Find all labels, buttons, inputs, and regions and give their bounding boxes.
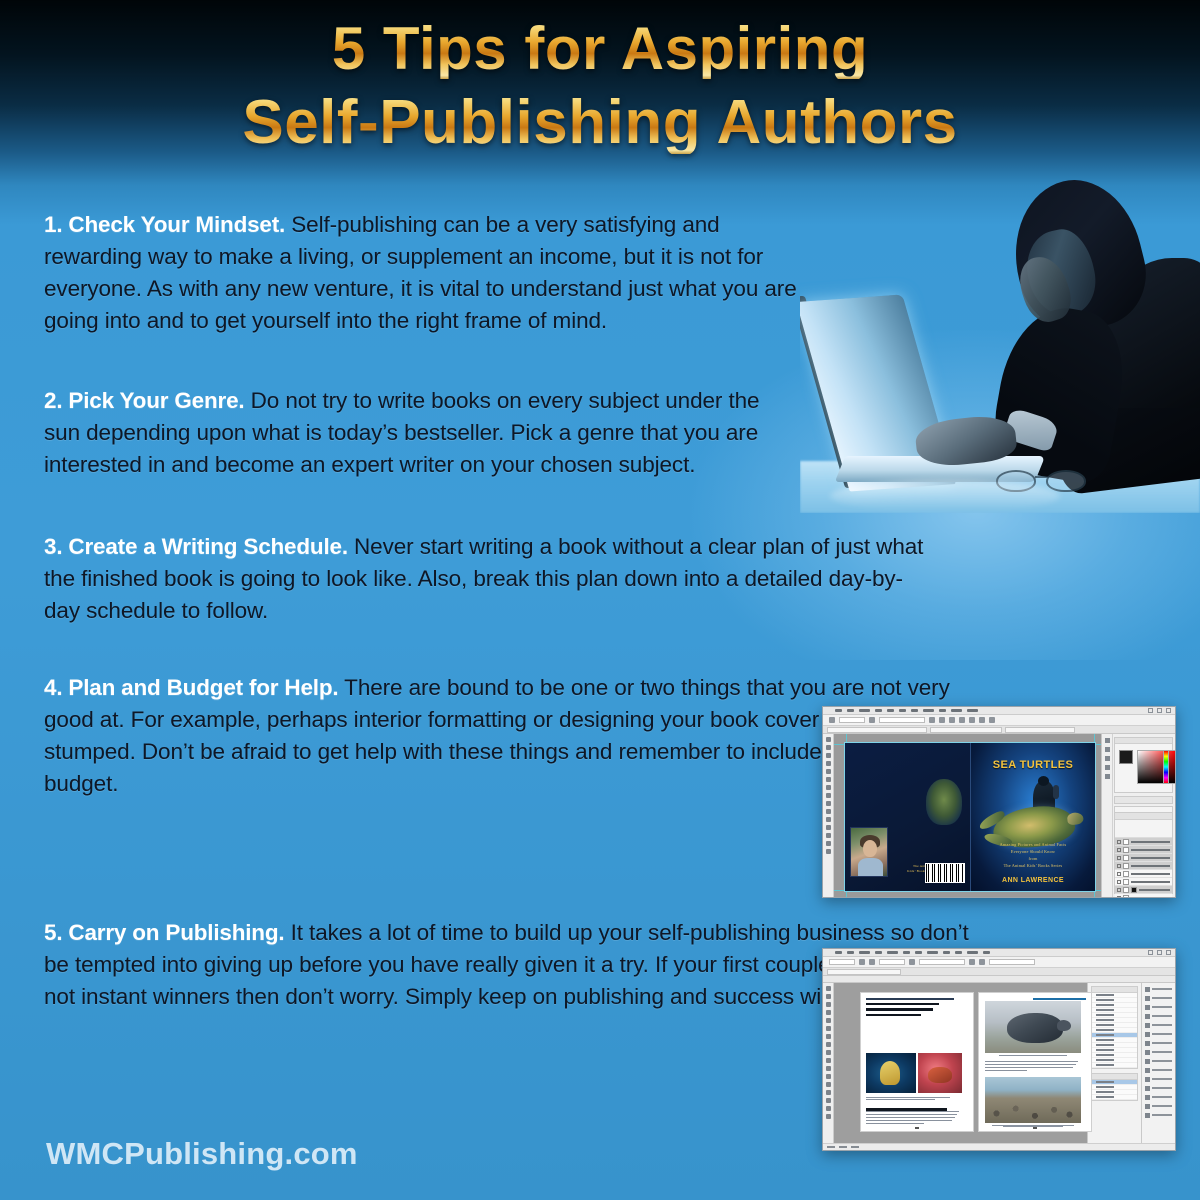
links-panel-button[interactable] (1145, 1004, 1172, 1010)
page-heading-2 (866, 1008, 933, 1011)
align-icon (1145, 1068, 1150, 1073)
move-tool-icon (829, 717, 835, 723)
clone-tool-icon (826, 785, 831, 790)
library-icon (1145, 1014, 1150, 1019)
page-number-right (979, 1127, 1091, 1129)
image-editor-toolbar[interactable] (823, 734, 834, 897)
type-tool-icon (826, 1018, 831, 1023)
history-panel-icon (1105, 738, 1110, 743)
layers-panel-button[interactable] (1145, 995, 1172, 1001)
layer-row[interactable] (1115, 894, 1172, 898)
title-line-1: 5 Tips for Aspiring (0, 18, 1200, 79)
tip-item-3: 3. Create a Writing Schedule. Never star… (44, 531, 924, 627)
distribute-icon (949, 717, 955, 723)
layer-row[interactable] (1115, 846, 1172, 854)
page-number-left (861, 1127, 973, 1129)
close-icon (1166, 708, 1171, 713)
close-icon (1166, 950, 1171, 955)
layer-row[interactable] (1115, 838, 1172, 846)
align-left-icon (859, 959, 865, 965)
align-center-icon (869, 959, 875, 965)
character-style-field (989, 959, 1035, 965)
maximize-icon (1157, 708, 1162, 713)
layers-panel[interactable] (1114, 812, 1173, 894)
info-panel-icon (1105, 765, 1110, 770)
layout-canvas[interactable] (834, 983, 1087, 1150)
rectangle-frame-tool-icon (826, 1050, 831, 1055)
type-tool-icon (826, 825, 831, 830)
turtle-nesting-beach-photo[interactable] (985, 1077, 1081, 1123)
window-controls[interactable] (1148, 708, 1171, 713)
tip-lead-2: 2. Pick Your Genre. (44, 388, 244, 413)
book-back-cover: The Animal Kids’ Books Series (845, 743, 970, 891)
cc-libraries-button[interactable] (1145, 1013, 1172, 1019)
hue-slider[interactable] (1163, 750, 1169, 784)
links-icon (1145, 1005, 1150, 1010)
layer-row[interactable] (1115, 862, 1172, 870)
char-style-item[interactable] (1092, 1095, 1137, 1100)
page-left[interactable] (860, 992, 974, 1132)
stroke-icon (1145, 1023, 1150, 1028)
page-heading-1 (866, 1003, 939, 1006)
navigator-panel-icon (1105, 756, 1110, 761)
collapsed-panel-rail[interactable] (1102, 734, 1113, 897)
minimize-icon (1148, 708, 1153, 713)
pages-panel-button[interactable] (1145, 986, 1172, 992)
author-photo (850, 827, 888, 877)
info-icon (1145, 1095, 1150, 1100)
layer-visibility-icon (1117, 896, 1121, 899)
object-styles-button[interactable] (1145, 1058, 1172, 1064)
layout-status-bar[interactable] (823, 1143, 1175, 1150)
free-transform-tool-icon (826, 1074, 831, 1079)
infographic-poster: 5 Tips for Aspiring Self-Publishing Auth… (0, 0, 1200, 1200)
option-field-1 (839, 717, 865, 723)
layer-visibility-icon (1117, 840, 1121, 844)
interior-layout-screenshot (822, 948, 1176, 1151)
layer-visibility-icon (1117, 880, 1121, 884)
isbn-barcode (925, 863, 965, 883)
zoom-level-field (827, 1146, 835, 1148)
text-wrap-panel-button[interactable] (1145, 1085, 1172, 1091)
layer-row[interactable] (1115, 886, 1172, 894)
layer-visibility-icon (1117, 888, 1121, 892)
layer-thumbnail (1123, 855, 1129, 861)
more-options-icon (989, 717, 995, 723)
tip-lead-5: 5. Carry on Publishing. (44, 920, 284, 945)
cover-title: SEA TURTLES (971, 759, 1095, 771)
document-tab-3[interactable] (1005, 727, 1075, 733)
horizontal-ruler (823, 976, 1175, 983)
layer-thumbnail (1123, 847, 1129, 853)
tip-item-2: 2. Pick Your Genre. Do not try to write … (44, 385, 789, 481)
layer-row[interactable] (1115, 854, 1172, 862)
move-tool-icon (826, 737, 831, 742)
table-icon (1145, 1104, 1150, 1109)
stressed-author-photo (800, 168, 1200, 513)
pages-icon (1145, 987, 1150, 992)
running-header (866, 998, 954, 1000)
stroke-weight-icon (909, 959, 915, 965)
maximize-icon (1157, 950, 1162, 955)
page-heading-3 (866, 1014, 921, 1017)
stroke-panel-button[interactable] (1145, 1022, 1172, 1028)
paragraph-styles-dock[interactable] (1087, 983, 1141, 1150)
color-icon (1145, 1032, 1150, 1037)
document-tab-1[interactable] (827, 727, 927, 733)
page-navigator-field (839, 1146, 847, 1148)
shape-tool-icon (826, 833, 831, 838)
blur-tool-icon (826, 809, 831, 814)
gradient-swatch-tool-icon (826, 1082, 831, 1087)
cover-canvas[interactable]: The Animal Kids’ Books Series SEA TURTLE… (834, 734, 1101, 897)
layer-thumbnail (1123, 895, 1129, 899)
layout-app-menu-bar[interactable] (823, 949, 1175, 957)
page-tool-icon (826, 1002, 831, 1007)
auto-select-icon (959, 717, 965, 723)
hand-tool-icon (826, 1106, 831, 1111)
cover-subtitle-line-4: The Animal Kids’ Books Series (1004, 863, 1063, 868)
gradient-tool-icon (826, 801, 831, 806)
minimize-icon (1148, 950, 1153, 955)
effects-panel-button[interactable] (1145, 1049, 1172, 1055)
effects-icon (979, 959, 985, 965)
layers-panel-header[interactable] (1115, 813, 1172, 820)
text-wrap-icon (969, 959, 975, 965)
swatches-panel-button[interactable] (1145, 1040, 1172, 1046)
rectangle-tool-icon (826, 1058, 831, 1063)
scissors-tool-icon (826, 1066, 831, 1071)
utility-panel-dock[interactable] (1141, 983, 1175, 1150)
panel-tab-strip[interactable] (1114, 796, 1173, 804)
tip-item-1: 1. Check Your Mindset. Self-publishing c… (44, 209, 804, 337)
pen-tool-icon (826, 817, 831, 822)
eraser-tool-icon (826, 793, 831, 798)
layer-visibility-icon (1117, 864, 1121, 868)
style-list-item[interactable] (1092, 1063, 1137, 1068)
eyedropper-tool-icon (826, 1098, 831, 1103)
hand-tool-icon (826, 841, 831, 846)
index-panel-button[interactable] (1145, 1112, 1172, 1118)
color-panel-button[interactable] (1145, 1031, 1172, 1037)
align-left-icon (869, 717, 875, 723)
character-styles-panel[interactable] (1091, 1073, 1138, 1101)
paragraph-styles-panel[interactable] (1091, 986, 1138, 1069)
page-right[interactable] (978, 992, 1092, 1132)
color-panel[interactable] (1114, 737, 1173, 793)
cover-subtitle: Amazing Pictures and Animal Facts Everyo… (975, 841, 1091, 869)
marquee-tool-icon (826, 745, 831, 750)
note-tool-icon (826, 1090, 831, 1095)
book-cover-spread: The Animal Kids’ Books Series SEA TURTLE… (844, 742, 1096, 892)
info-panel-button[interactable] (1145, 1094, 1172, 1100)
desk-reflection (830, 480, 1060, 512)
brushes-panel-icon (1105, 774, 1110, 779)
layout-app-control-bar[interactable] (823, 957, 1175, 968)
layer-thumbnail (1123, 839, 1129, 845)
sea-turtle-beach-photo[interactable] (985, 1001, 1081, 1053)
image-editor-menu-bar[interactable] (823, 707, 1175, 715)
cover-subtitle-line-1: Amazing Pictures and Animal Facts (1000, 842, 1067, 847)
pencil-tool-icon (826, 1042, 831, 1047)
image-editor-panel-dock[interactable] (1101, 734, 1175, 897)
option-field-2 (879, 717, 925, 723)
color-panel-header[interactable] (1115, 738, 1172, 744)
object-position-field (919, 959, 965, 965)
site-footer-url: WMCPublishing.com (46, 1136, 358, 1172)
title-line-2: Self-Publishing Authors (0, 91, 1200, 154)
back-cover-turtle-image (926, 779, 962, 825)
tip-lead-1: 1. Check Your Mindset. (44, 212, 285, 237)
hyperlink-icon (1145, 1077, 1150, 1082)
lasso-tool-icon (826, 753, 831, 758)
cover-subtitle-line-2: Everyone Should Know (1011, 849, 1055, 854)
zoom-tool-icon (826, 849, 831, 854)
layer-thumbnail (1123, 863, 1129, 869)
direct-selection-tool-icon (826, 994, 831, 999)
font-size-field (879, 959, 905, 965)
document-tab-bar[interactable] (823, 726, 1175, 734)
layer-thumbnail (1123, 879, 1129, 885)
layers-panel-options[interactable] (1115, 820, 1172, 838)
layer-visibility-icon (1117, 848, 1121, 852)
gap-tool-icon (826, 1010, 831, 1015)
layout-app-toolbar[interactable] (823, 983, 834, 1150)
layer-visibility-icon (1117, 872, 1121, 876)
pen-tool-icon (826, 1034, 831, 1039)
page-title: 5 Tips for Aspiring Self-Publishing Auth… (0, 18, 1200, 154)
arrange-icon (979, 717, 985, 723)
layer-thumbnail (1123, 871, 1129, 877)
window-controls[interactable] (1148, 950, 1171, 955)
running-header (1033, 998, 1086, 1000)
align-panel-button[interactable] (1145, 1067, 1172, 1073)
layer-row[interactable] (1115, 878, 1172, 886)
selection-tool-icon (826, 986, 831, 991)
tip-lead-3: 3. Create a Writing Schedule. (44, 534, 348, 559)
hyperlinks-panel-button[interactable] (1145, 1076, 1172, 1082)
tip-lead-4: 4. Plan and Budget for Help. (44, 675, 338, 700)
crop-tool-icon (826, 761, 831, 766)
book-front-cover: SEA TURTLES Amazing Pictures and Animal … (970, 743, 1095, 891)
swatches-icon (1145, 1041, 1150, 1046)
preflight-status (851, 1146, 859, 1148)
eyedropper-tool-icon (826, 769, 831, 774)
brush-tool-icon (826, 777, 831, 782)
table-panel-button[interactable] (1145, 1103, 1172, 1109)
line-tool-icon (826, 1026, 831, 1031)
align-right-icon (939, 717, 945, 723)
cover-author-name: ANN LAWRENCE (971, 877, 1095, 884)
transform-icon (969, 717, 975, 723)
page-spread (860, 992, 1092, 1132)
crab-photo[interactable] (918, 1053, 962, 1093)
document-tab-2[interactable] (930, 727, 1002, 733)
layer-visibility-icon (1117, 856, 1121, 860)
foreground-color-swatch[interactable] (1119, 750, 1133, 764)
layer-mask-thumbnail (1131, 887, 1137, 893)
actions-panel-icon (1105, 747, 1110, 752)
color-field[interactable] (1137, 750, 1176, 784)
paragraph-style-field (829, 959, 855, 965)
text-wrap-icon (1145, 1086, 1150, 1091)
effects-icon (1145, 1050, 1150, 1055)
zoom-tool-icon (826, 1114, 831, 1119)
layers-icon (1145, 996, 1150, 1001)
layout-document-tab-bar[interactable] (823, 968, 1175, 976)
layer-thumbnail (1123, 887, 1129, 893)
align-center-icon (929, 717, 935, 723)
jellyfish-photo[interactable] (866, 1053, 916, 1093)
cover-subtitle-line-3: from (1029, 856, 1038, 861)
index-icon (1145, 1113, 1150, 1118)
cover-design-screenshot: The Animal Kids’ Books Series SEA TURTLE… (822, 706, 1176, 898)
layer-row[interactable] (1115, 870, 1172, 878)
object-styles-icon (1145, 1059, 1150, 1064)
image-editor-options-bar[interactable] (823, 715, 1175, 726)
document-tab-1[interactable] (827, 969, 901, 975)
